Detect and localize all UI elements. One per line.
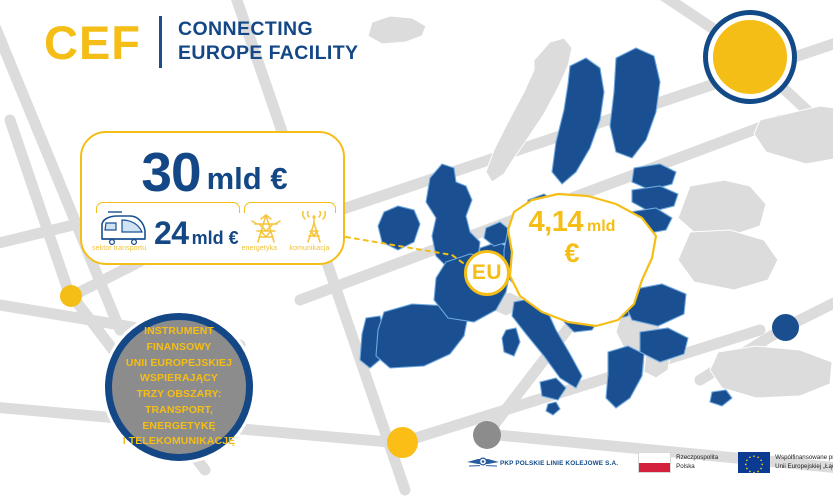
brand-cef: CEF — [44, 19, 141, 66]
info-line-4: WSPIERAJĄCY — [140, 372, 218, 384]
info-line-3: UNII EUROPEJSKIEJ — [126, 357, 232, 369]
info-line-5: TRZY OBSZARY: — [136, 388, 221, 400]
header-subtitle-line2: EUROPE FACILITY — [178, 42, 358, 66]
footer-logos: PKP POLSKIE LINIE KOLEJOWE S.A. Rzeczpos… — [466, 452, 833, 473]
transport-budget-amount: 24 — [154, 215, 189, 251]
poland-flag-icon — [638, 452, 671, 473]
transport-budget-unit: mld € — [192, 228, 239, 248]
total-budget: 30mld € — [82, 140, 347, 204]
network-node-yellow-left — [60, 285, 82, 307]
transport-budget: 24mld € — [154, 215, 239, 252]
eu-badge-label: EU — [472, 261, 502, 285]
poland-logo-line2: Polska — [676, 463, 718, 472]
eu-badge: EU — [464, 250, 510, 296]
info-line-6: TRANSPORT, — [145, 404, 213, 416]
train-icon: sektor transportu — [92, 211, 150, 253]
winged-wheel-icon — [466, 456, 500, 469]
header: CEF CONNECTING EUROPE FACILITY — [44, 16, 358, 68]
network-node-gray-bottom — [473, 421, 501, 449]
eu-logo-text: Współfinansowane przez Instrument Unii E… — [775, 454, 833, 472]
energy-telecom-sector: energetyka komunikacj — [242, 211, 337, 253]
poland-logo-text: Rzeczpospolita Polska — [676, 454, 718, 472]
total-budget-unit: mld € — [207, 161, 288, 196]
info-line-2: FINANSOWY — [146, 341, 211, 353]
network-node-yellow-bottom — [387, 427, 418, 458]
antenna-tower-icon: komunikacja — [294, 211, 334, 253]
flag-stripe-white — [639, 453, 670, 463]
poland-logo-line1: Rzeczpospolita — [676, 454, 718, 463]
network-node-hub — [708, 15, 792, 99]
info-line-7: ENERGETYKĘ — [142, 420, 215, 432]
pkp-logo-text: PKP POLSKIE LINIE KOLEJOWE S.A. — [500, 460, 618, 467]
cef-infographic: CEF CONNECTING EUROPE FACILITY 30mld € — [0, 0, 833, 500]
eu-flag-icon — [738, 452, 770, 473]
eu-logo-line2: Unii Europejskiej „Łącząc Europę” — [775, 463, 833, 472]
pkp-logo: PKP POLSKIE LINIE KOLEJOWE S.A. — [466, 456, 618, 469]
eu-logo-line1: Współfinansowane przez Instrument — [775, 454, 833, 463]
info-line-1: INSTRUMENT — [144, 325, 214, 337]
rzeczpospolita-polska-logo: Rzeczpospolita Polska — [638, 452, 718, 473]
eu-cofinancing-logo: Współfinansowane przez Instrument Unii E… — [738, 452, 833, 473]
budget-callout: 30mld € sektor transportu — [80, 131, 345, 265]
header-subtitle-line1: CONNECTING — [178, 18, 358, 42]
budget-breakdown: sektor transportu 24mld € — [92, 211, 337, 259]
transport-sector-label: sektor transportu — [92, 245, 146, 252]
flag-stripe-red — [639, 463, 670, 473]
info-line-8: I TELEKOMUNIKACJĘ — [123, 435, 236, 447]
power-pylon-icon: energetyka — [246, 211, 286, 253]
total-budget-amount: 30 — [141, 141, 200, 203]
info-circle-text: INSTRUMENT FINANSOWY UNII EUROPEJSKIEJ W… — [123, 324, 236, 450]
energy-sector-label: energetyka — [242, 245, 278, 252]
info-circle: INSTRUMENT FINANSOWY UNII EUROPEJSKIEJ W… — [105, 313, 253, 461]
transport-sector: sektor transportu 24mld € — [92, 211, 242, 253]
telecom-sector-label: komunikacja — [290, 245, 330, 252]
header-divider — [159, 16, 162, 68]
header-subtitle: CONNECTING EUROPE FACILITY — [178, 18, 358, 66]
network-node-navy-right — [772, 314, 799, 341]
